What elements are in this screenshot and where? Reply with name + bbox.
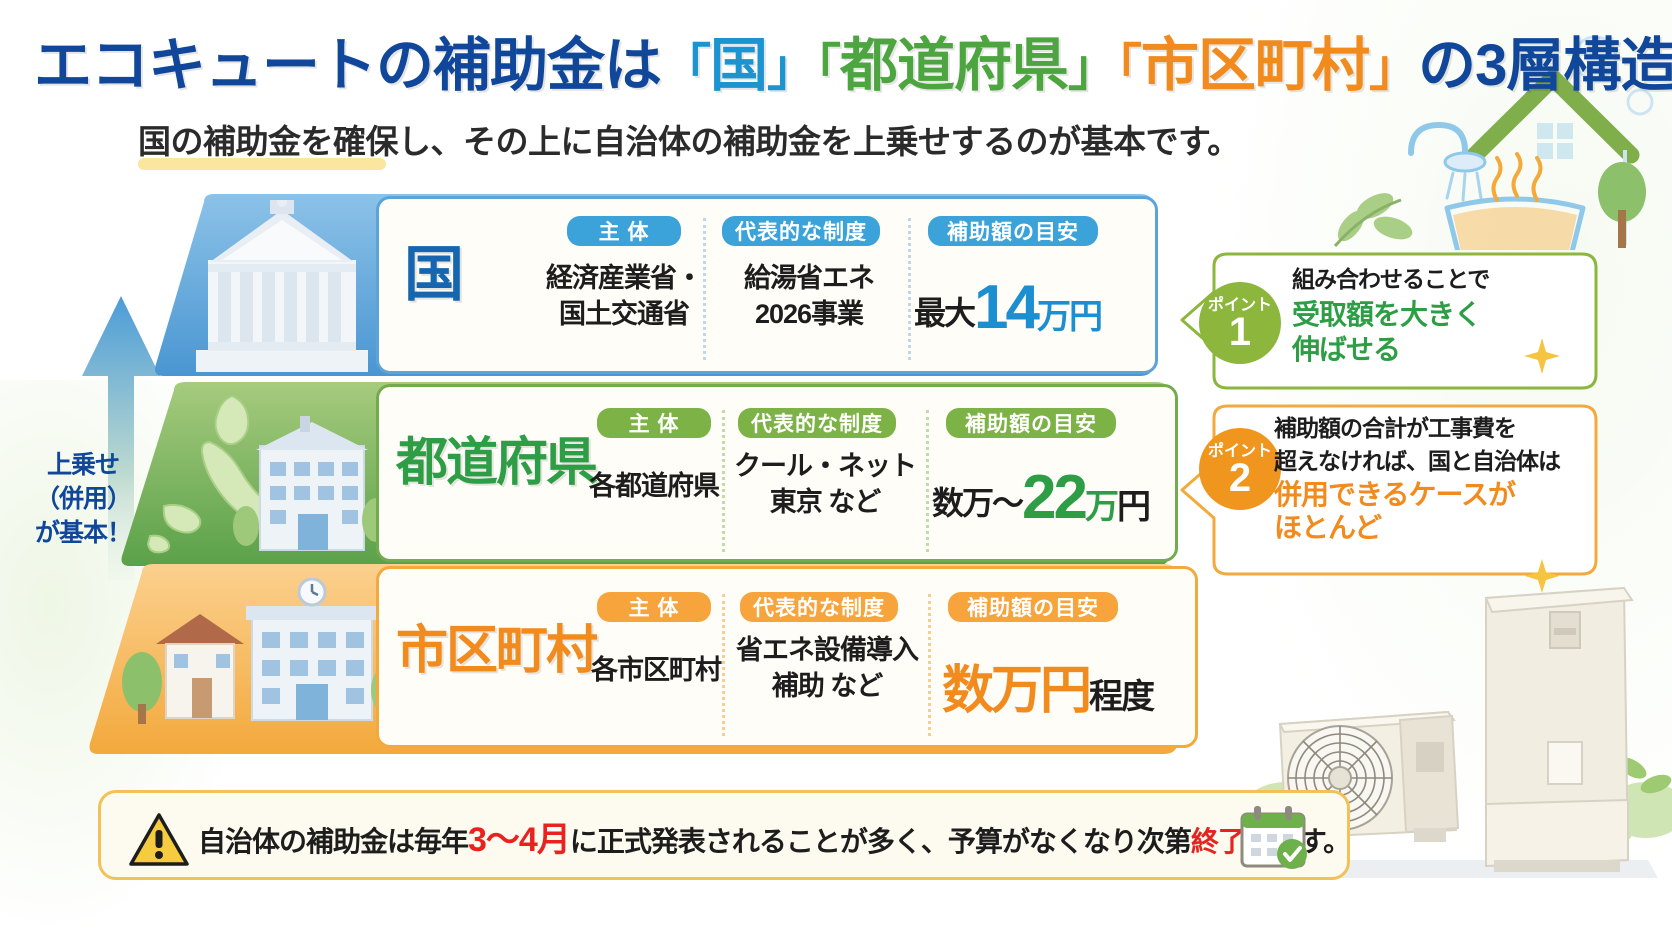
cell-subject-national-l2: 国土交通省 <box>530 296 718 332</box>
amount-national: 最大14万円 <box>914 272 1101 343</box>
amount-national-unit: 万円 <box>1037 298 1101 336</box>
point-2-line-3: ほとんど <box>1274 511 1560 544</box>
amount-prefecture-prefix: 数万～ <box>932 485 1022 521</box>
title-part-6: 」 <box>1068 40 1117 96</box>
cell-subject-prefecture-l1: 各都道府県 <box>568 468 740 504</box>
warning-triangle-icon <box>128 812 190 868</box>
point-2-badge-num: 2 <box>1229 460 1251 496</box>
cell-program-prefecture-l1: クール・ネット <box>730 448 920 484</box>
point-1-line-1: 受取額を大きく <box>1292 297 1489 332</box>
cell-program-municipality: 省エネ設備導入 補助 など <box>728 632 926 704</box>
amount-prefecture-suffix: 円 <box>1117 488 1149 526</box>
amount-municipality-suffix: 程度 <box>1089 678 1153 716</box>
chip-amount-prefecture: 補助額の目安 <box>946 408 1116 438</box>
title-part-8: 市区町村 <box>1141 33 1369 98</box>
amount-national-prefix: 最大 <box>914 295 974 331</box>
title-part-10: の3層構造 <box>1418 33 1672 98</box>
title-part-1: 「 <box>661 40 710 96</box>
point-1-line-2: 伸ばせる <box>1292 332 1489 367</box>
chip-subject-prefecture: 主 体 <box>597 408 711 438</box>
point-2-badge: ポイント 2 <box>1199 428 1281 510</box>
chip-amount-national: 補助額の目安 <box>928 216 1098 246</box>
chip-subject-national: 主 体 <box>567 216 681 246</box>
amount-municipality: 数万円程度 <box>942 648 1153 723</box>
point-2-line-2: 併用できるケースが <box>1274 478 1560 511</box>
chip-program-municipality: 代表的な制度 <box>740 592 898 622</box>
cell-program-prefecture-l2: 東京 など <box>730 484 920 520</box>
government-building-icon <box>176 200 386 376</box>
subtitle-wrap: 国の補助金を確保し、その上に自治体の補助金を上乗せするのが基本です。 <box>138 118 1240 166</box>
point-2-text: 補助額の合計が工事費を 超えなければ、国と自治体は 併用できるケースが ほとんど <box>1274 412 1560 544</box>
warning-text: 自治体の補助金は毎年3～4月に正式発表されることが多く、予算がなくなり次第終了し… <box>198 823 1350 859</box>
warning-seg-1: 3～4月 <box>468 821 570 859</box>
japan-map-icon <box>140 386 386 562</box>
cell-program-national-l2: 2026事業 <box>715 296 903 332</box>
title-part-5: 都道府県 <box>840 33 1068 98</box>
page-title: エコキュートの補助金は「国」「都道府県」「市区町村」の3層構造 <box>34 28 1214 104</box>
town-hall-icon <box>96 578 392 748</box>
point-1-badge-num: 1 <box>1229 314 1251 350</box>
title-part-3: 」 <box>767 40 816 96</box>
title-part-2: 国 <box>710 33 767 98</box>
cell-program-national-l1: 給湯省エネ <box>715 260 903 296</box>
amount-national-value: 14 <box>974 273 1037 342</box>
tier-national-name: 国 <box>404 226 462 313</box>
chip-program-prefecture: 代表的な制度 <box>738 408 896 438</box>
cell-subject-municipality: 各市区町村 <box>570 652 742 688</box>
point-2-line-0: 補助額の合計が工事費を <box>1274 412 1560 445</box>
point-2-line-1: 超えなければ、国と自治体は <box>1274 445 1560 478</box>
title-part-0: エコキュートの補助金は <box>34 33 661 98</box>
divider-prefecture-2 <box>926 410 929 552</box>
calendar-check-icon <box>1238 804 1308 870</box>
amount-municipality-value: 数万円 <box>942 662 1089 720</box>
warning-seg-0: 自治体の補助金は毎年 <box>198 826 468 857</box>
cell-subject-municipality-l1: 各市区町村 <box>570 652 742 688</box>
divider-national-2 <box>908 218 911 360</box>
point-1-badge: ポイント 1 <box>1199 282 1281 364</box>
chip-program-national: 代表的な制度 <box>722 216 880 246</box>
tier-municipality-name: 市区町村 <box>396 608 596 683</box>
cell-subject-national-l1: 経済産業省・ <box>530 260 718 296</box>
infographic-canvas: エコキュートの補助金は「国」「都道府県」「市区町村」の3層構造 国の補助金を確保… <box>0 0 1672 941</box>
point-1-line-0: 組み合わせることで <box>1292 262 1489 297</box>
title-part-7: 「 <box>1117 40 1141 96</box>
cell-subject-national: 経済産業省・ 国土交通省 <box>530 260 718 332</box>
title-part-4: 「 <box>816 40 840 96</box>
warning-seg-3: 終了 <box>1191 826 1245 857</box>
title-part-9: 」 <box>1369 40 1418 96</box>
chip-amount-municipality: 補助額の目安 <box>948 592 1118 622</box>
warning-seg-2: に正式発表されることが多く、予算がなくなり次第 <box>570 826 1191 857</box>
cell-program-national: 給湯省エネ 2026事業 <box>715 260 903 332</box>
cell-program-prefecture: クール・ネット 東京 など <box>730 448 920 520</box>
amount-prefecture-unit: 万 <box>1085 488 1117 526</box>
tier-prefecture-name: 都道府県 <box>396 420 596 495</box>
point-1-text: 組み合わせることで 受取額を大きく 伸ばせる <box>1292 262 1489 367</box>
chip-subject-municipality: 主 体 <box>597 592 711 622</box>
amount-prefecture: 数万～22万円 <box>932 462 1149 533</box>
divider-municipality-2 <box>928 594 931 736</box>
cell-program-municipality-l2: 補助 など <box>728 668 926 704</box>
cell-program-municipality-l1: 省エネ設備導入 <box>728 632 926 668</box>
cell-subject-prefecture: 各都道府県 <box>568 468 740 504</box>
subtitle: 国の補助金を確保し、その上に自治体の補助金を上乗せするのが基本です。 <box>138 118 1240 166</box>
amount-prefecture-value: 22 <box>1022 463 1085 532</box>
